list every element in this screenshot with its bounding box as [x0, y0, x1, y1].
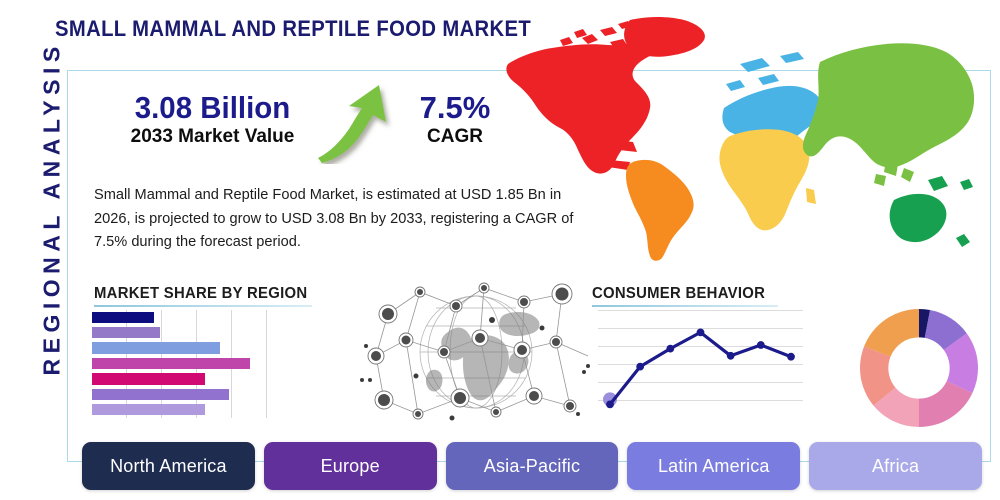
- bar-segment: [92, 312, 154, 323]
- line-data-point: [606, 401, 614, 409]
- region-button-asia-pacific[interactable]: Asia-Pacific: [446, 442, 619, 490]
- consumer-behavior-line-chart: [598, 310, 803, 418]
- infographic-root: REGIONAL ANALYSIS SMALL MAMMAL AND REPTI…: [0, 0, 1000, 500]
- consumer-behavior-donut-chart: [858, 308, 980, 428]
- bar-segment: [92, 358, 250, 369]
- region-button-latin-america[interactable]: Latin America: [627, 442, 800, 490]
- line-data-point: [697, 329, 705, 337]
- bar-row: [92, 404, 205, 415]
- line-data-point: [666, 345, 674, 353]
- bar-row: [92, 358, 250, 369]
- bar-segment: [92, 404, 205, 415]
- line-data-point: [757, 341, 765, 349]
- world-map-icon: [490, 12, 1000, 274]
- bar-segment: [92, 342, 220, 353]
- line-chart-svg: [598, 310, 803, 418]
- globe-network-icon: [356, 280, 596, 426]
- line-data-point: [636, 363, 644, 371]
- region-button-north-america[interactable]: North America: [82, 442, 255, 490]
- donut-chart-svg: [858, 308, 980, 428]
- kpi-value: 3.08 Billion: [101, 92, 324, 125]
- vertical-section-label: REGIONAL ANALYSIS: [39, 76, 66, 376]
- market-share-bar-chart: [92, 310, 267, 418]
- section-rule-market-share: [94, 305, 312, 307]
- bar-row: [92, 342, 220, 353]
- section-header-market-share: MARKET SHARE BY REGION: [94, 285, 307, 303]
- bar-segment: [92, 389, 229, 400]
- bar-segment: [92, 327, 160, 338]
- region-button-africa[interactable]: Africa: [809, 442, 982, 490]
- region-button-europe[interactable]: Europe: [264, 442, 437, 490]
- kpi-value-label: 2033 Market Value: [95, 126, 330, 148]
- kpi-market-value: 3.08 Billion 2033 Market Value: [95, 92, 330, 147]
- line-data-point: [787, 353, 795, 361]
- section-rule-consumer-behavior: [592, 305, 778, 307]
- bar-row: [92, 327, 160, 338]
- growth-arrow-icon: [316, 82, 396, 164]
- bar-row: [92, 373, 205, 384]
- bar-row: [92, 389, 229, 400]
- bar-gridline: [266, 310, 267, 418]
- line-data-point: [727, 352, 735, 360]
- section-header-consumer-behavior: CONSUMER BEHAVIOR: [592, 285, 765, 303]
- page-title: SMALL MAMMAL AND REPTILE FOOD MARKET: [55, 16, 531, 42]
- region-button-row: North AmericaEuropeAsia-PacificLatin Ame…: [82, 442, 982, 490]
- bar-segment: [92, 373, 205, 384]
- bar-row: [92, 312, 154, 323]
